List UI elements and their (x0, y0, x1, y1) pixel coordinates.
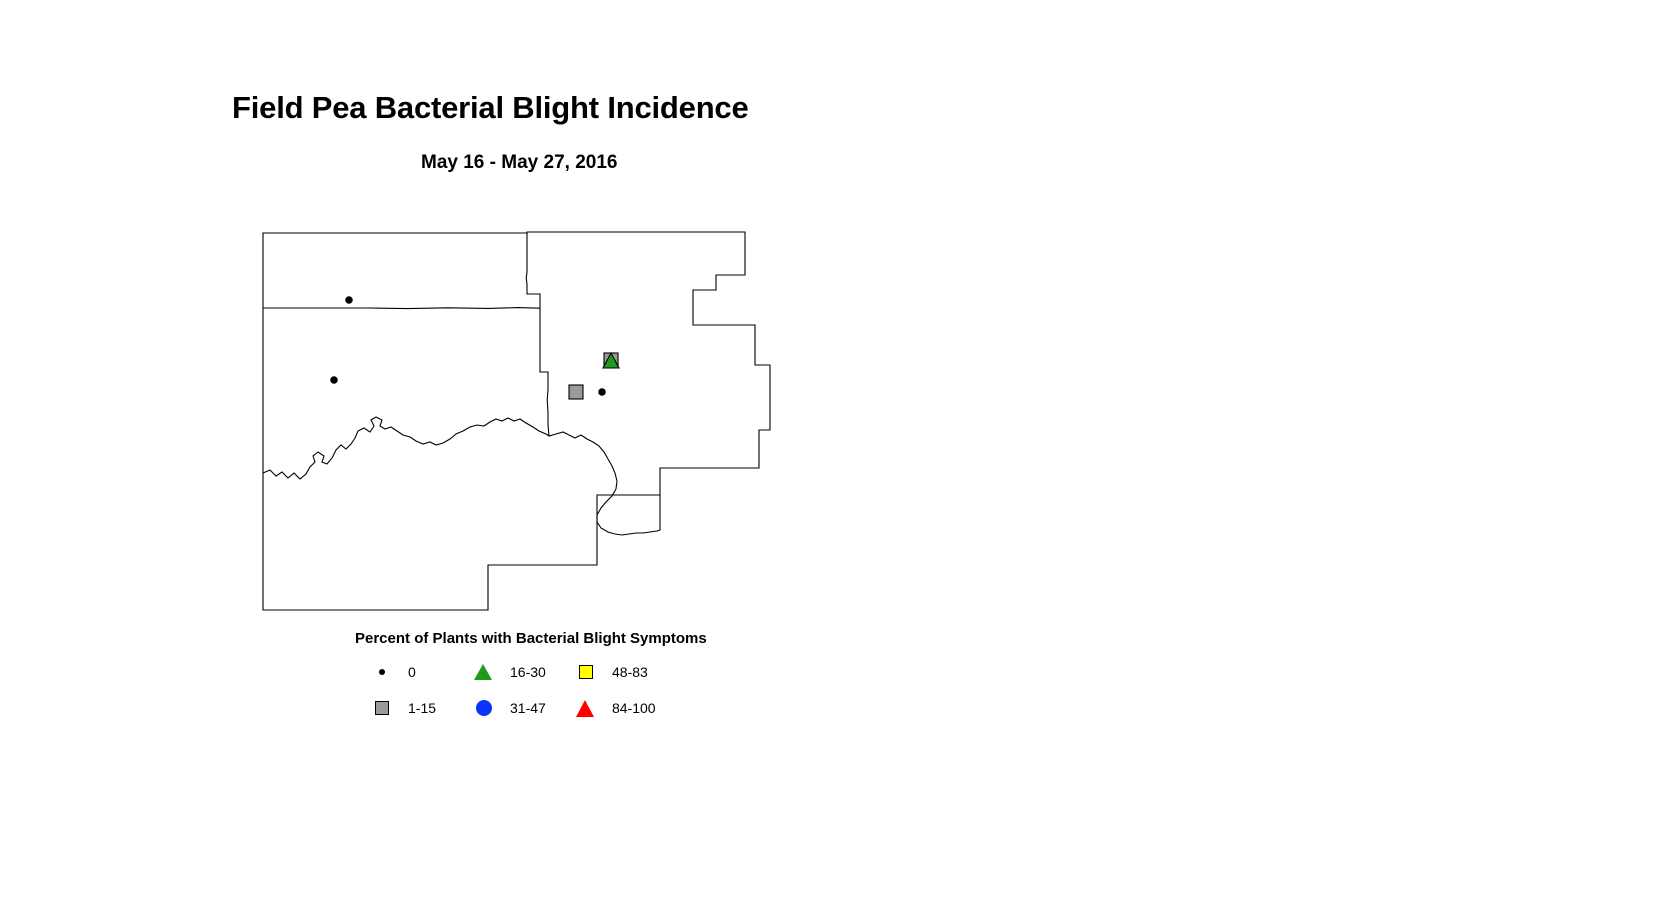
square-marker-yellow-icon (572, 658, 602, 688)
map-graphic (258, 220, 778, 620)
legend-row-bottom: 1-15 31-47 84-100 (258, 694, 898, 728)
triangle-marker-green-icon (470, 658, 500, 688)
outer-boundary-path (263, 232, 770, 610)
map-marker-dot-3[interactable] (599, 389, 606, 396)
legend-item-label: 0 (408, 664, 416, 680)
map-marker-square-gray-2[interactable] (569, 385, 583, 399)
legend-item-84-100[interactable]: 84-100 (572, 694, 732, 728)
county-line-upper-horizontal (263, 308, 540, 309)
square-marker-gray-icon (368, 694, 398, 724)
page-subtitle: May 16 - May 27, 2016 (421, 152, 617, 174)
triangle-marker-red-icon (572, 694, 602, 724)
map-legend: Percent of Plants with Bacterial Blight … (258, 630, 898, 730)
page-title: Field Pea Bacterial Blight Incidence (232, 90, 749, 126)
map-figure: Field Pea Bacterial Blight Incidence May… (0, 0, 1673, 900)
county-line-top-vertical (526, 233, 540, 308)
legend-row-top: 0 16-30 48-83 (258, 658, 898, 692)
map-panel (258, 220, 778, 620)
county-line-mid-vertical (540, 308, 549, 436)
legend-title: Percent of Plants with Bacterial Blight … (355, 630, 707, 647)
circle-marker-blue-icon (470, 694, 500, 724)
map-marker-dot-2[interactable] (331, 377, 338, 384)
legend-item-label: 84-100 (612, 700, 656, 716)
river-boundary-path (263, 417, 660, 535)
legend-item-label: 1-15 (408, 700, 436, 716)
legend-item-label: 48-83 (612, 664, 648, 680)
legend-item-label: 16-30 (510, 664, 546, 680)
map-marker-dot-1[interactable] (346, 297, 353, 304)
data-point-markers (331, 297, 619, 399)
dot-marker-icon (368, 658, 398, 688)
legend-item-label: 31-47 (510, 700, 546, 716)
legend-item-48-83[interactable]: 48-83 (572, 658, 732, 692)
region-boundaries (263, 232, 770, 610)
